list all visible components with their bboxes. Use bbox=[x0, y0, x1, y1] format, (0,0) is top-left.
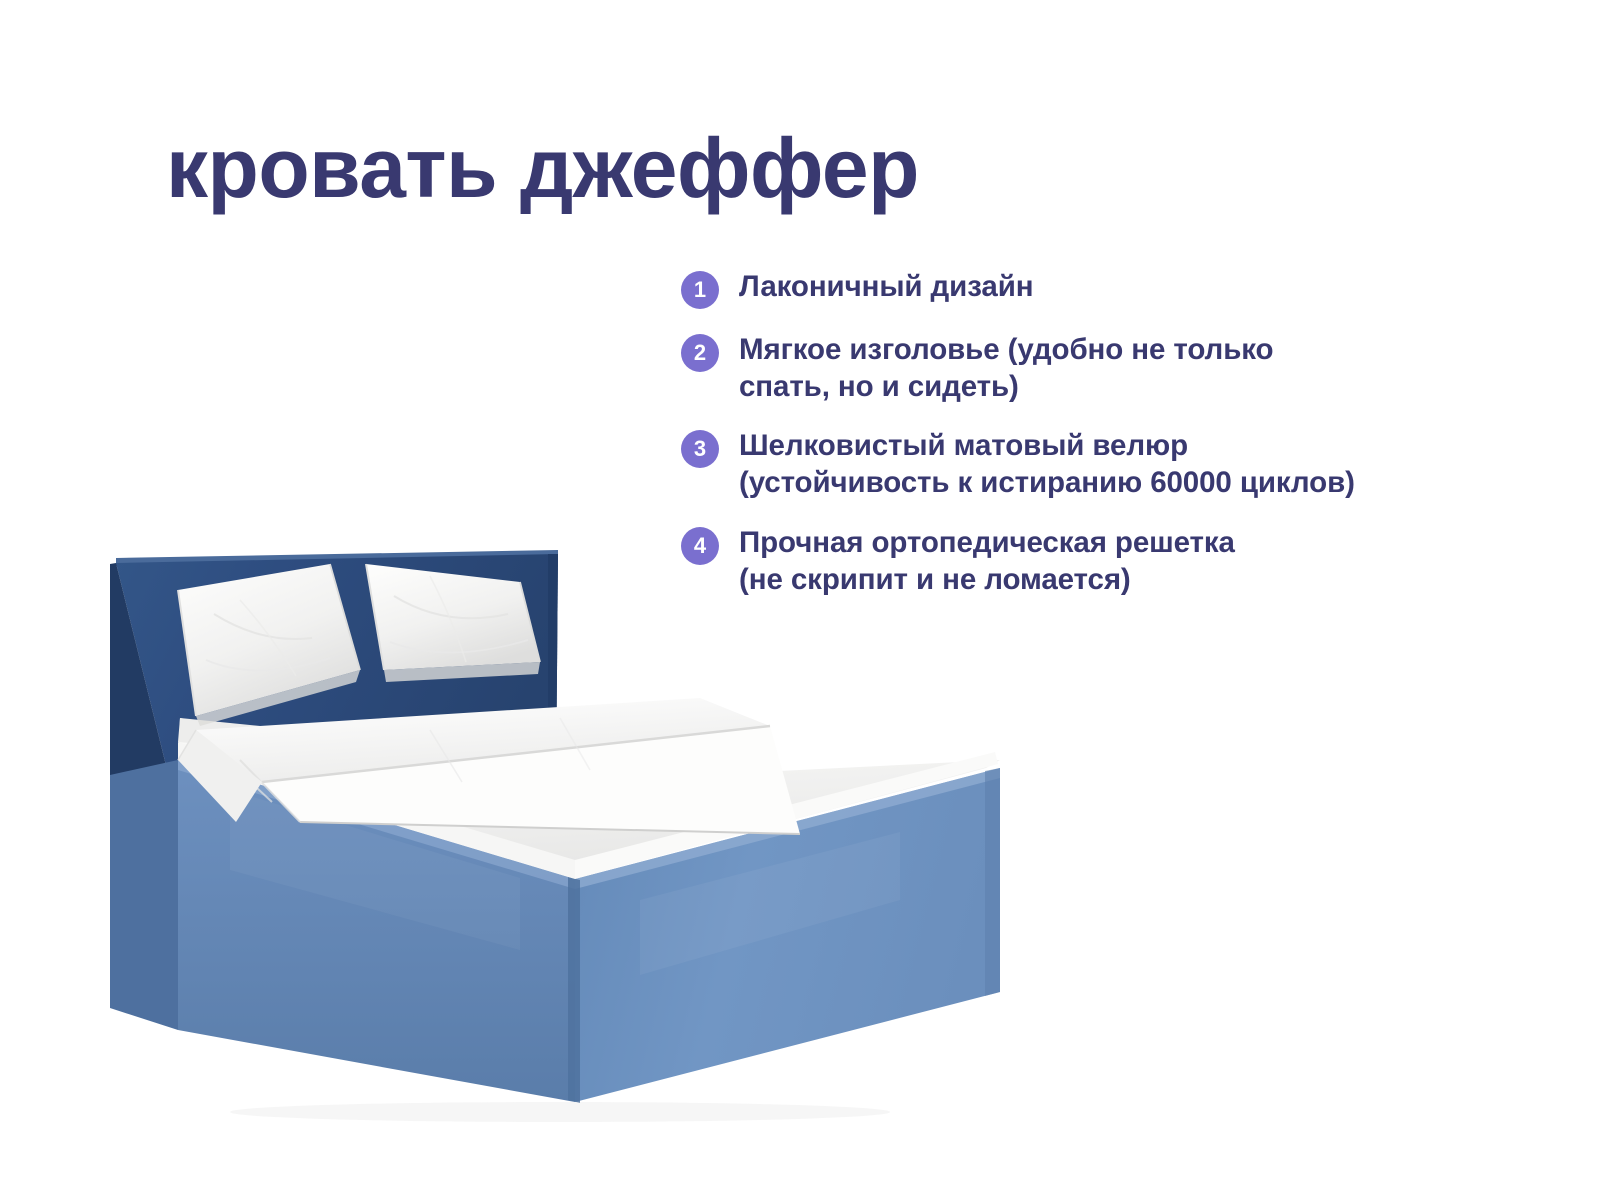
feature-number-badge: 1 bbox=[681, 271, 719, 309]
list-item: 2 Мягкое изголовье (удобно не только спа… bbox=[681, 331, 1511, 405]
feature-number-badge: 2 bbox=[681, 334, 719, 372]
product-image bbox=[0, 430, 1080, 1170]
feature-text: Лаконичный дизайн bbox=[739, 268, 1033, 305]
list-item: 1 Лаконичный дизайн bbox=[681, 268, 1511, 309]
feature-text: Мягкое изголовье (удобно не только спать… bbox=[739, 331, 1273, 405]
product-promo-canvas: кровать джеффер 1 Лаконичный дизайн 2 Мя… bbox=[0, 0, 1600, 1200]
page-title: кровать джеффер bbox=[166, 126, 919, 210]
